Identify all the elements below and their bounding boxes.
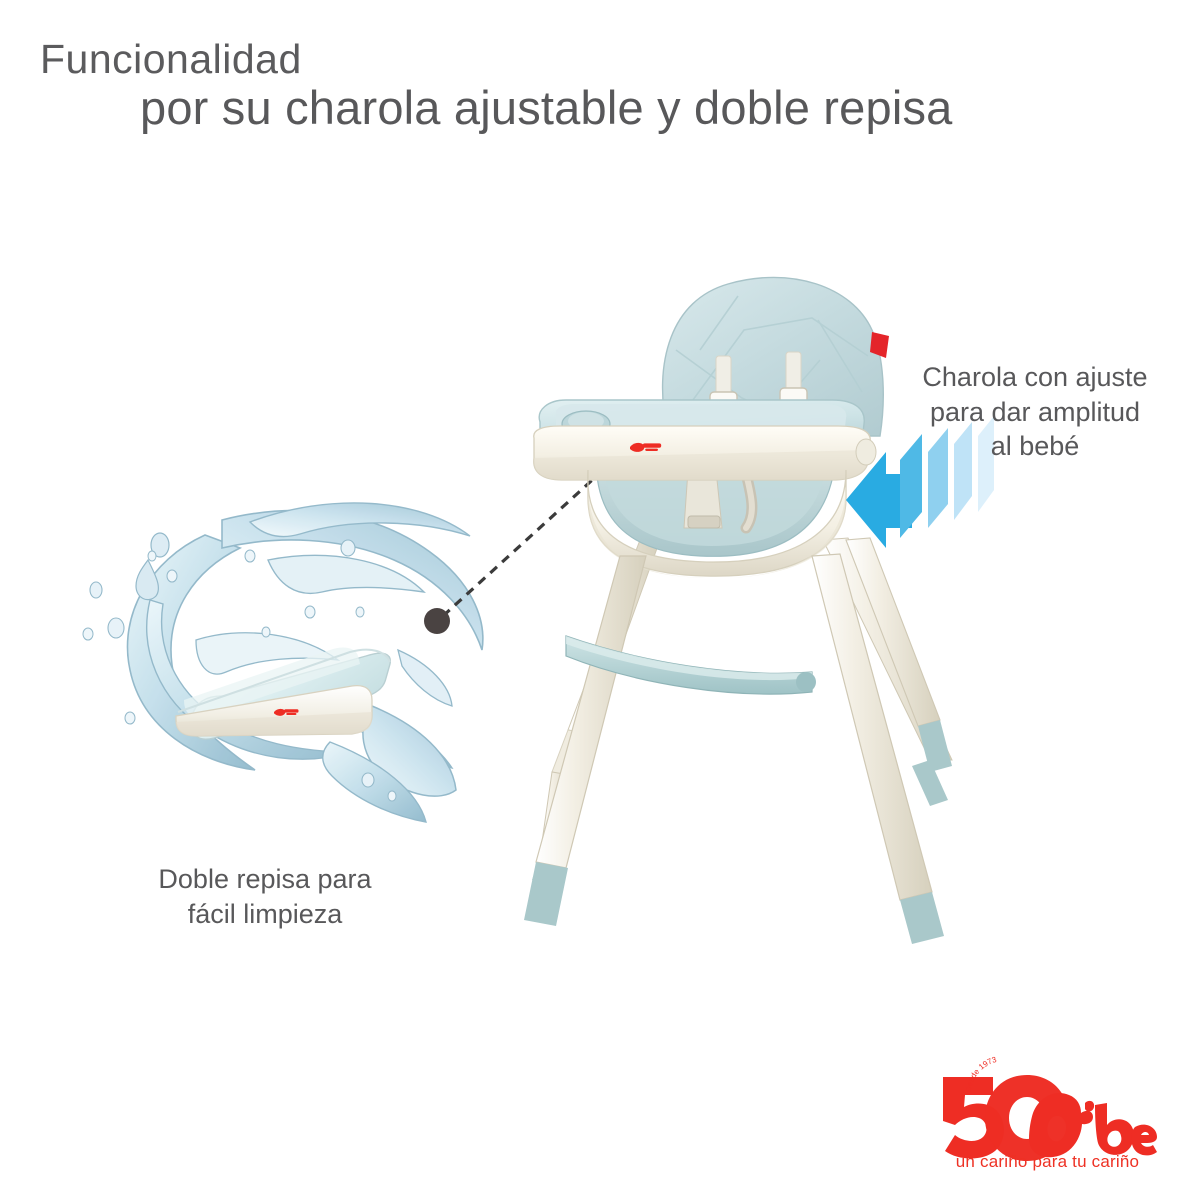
- logo-tagline: un cariño para tu cariño: [935, 1152, 1160, 1172]
- callout-right-line-2: para dar amplitud: [900, 395, 1170, 430]
- callout-double-tray: Doble repisa para fácil limpieza: [120, 862, 410, 931]
- infographic-canvas: Funcionalidad por su charola ajustable y…: [0, 0, 1200, 1200]
- callout-left-line-2: fácil limpieza: [120, 897, 410, 932]
- callout-left-line-1: Doble repisa para: [120, 862, 410, 897]
- adjust-arrow: [0, 0, 1200, 1200]
- callout-tray-adjust: Charola con ajuste para dar amplitud al …: [900, 360, 1170, 464]
- callout-right-line-1: Charola con ajuste: [900, 360, 1170, 395]
- callout-right-line-3: al bebé: [900, 429, 1170, 464]
